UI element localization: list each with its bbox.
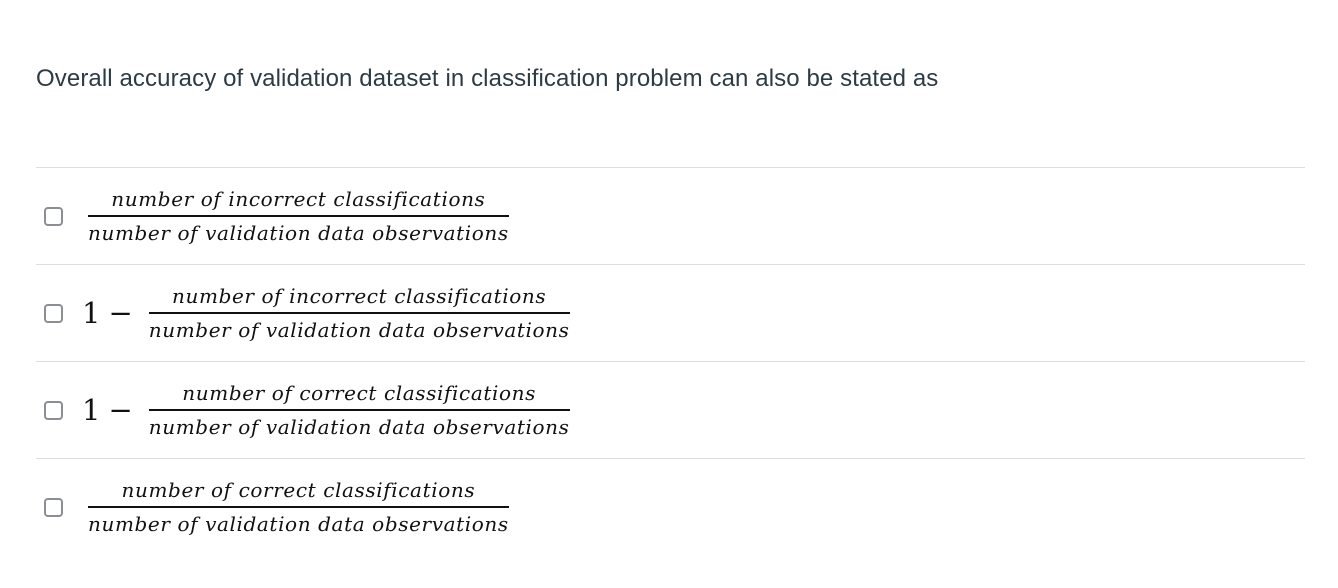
answer-option-row[interactable]: 1− number of correct classifications num…	[36, 361, 1305, 458]
answer-option-row[interactable]: 1− number of incorrect classifications n…	[36, 264, 1305, 361]
answer-options-list: number of incorrect classifications numb…	[36, 167, 1305, 555]
answer-option-row[interactable]: number of incorrect classifications numb…	[36, 167, 1305, 264]
checkbox-unchecked-icon[interactable]	[44, 304, 63, 323]
minus-sign: −	[100, 296, 134, 330]
fraction-denominator: number of validation data observations	[149, 411, 570, 441]
fraction: number of incorrect classifications numb…	[149, 282, 570, 344]
question-stem: Overall accuracy of validation dataset i…	[36, 62, 938, 96]
leading-one: 1	[82, 296, 100, 330]
answer-math-expression: 1− number of incorrect classifications n…	[80, 282, 1305, 344]
fraction-numerator: number of incorrect classifications	[99, 185, 497, 215]
checkbox-unchecked-icon[interactable]	[44, 207, 63, 226]
fraction: number of correct classifications number…	[88, 476, 509, 538]
answer-math-expression: number of incorrect classifications numb…	[80, 185, 1305, 247]
checkbox-unchecked-icon[interactable]	[44, 498, 63, 517]
answer-checkbox-cell[interactable]	[36, 401, 80, 420]
fraction-numerator: number of correct classifications	[110, 476, 488, 506]
answer-checkbox-cell[interactable]	[36, 207, 80, 226]
minus-sign: −	[100, 393, 134, 427]
checkbox-unchecked-icon[interactable]	[44, 401, 63, 420]
fraction-numerator: number of correct classifications	[170, 379, 548, 409]
leading-one: 1	[82, 393, 100, 427]
answer-option-row[interactable]: number of correct classifications number…	[36, 458, 1305, 555]
quiz-question-page: Overall accuracy of validation dataset i…	[0, 0, 1338, 588]
answer-checkbox-cell[interactable]	[36, 304, 80, 323]
answer-math-expression: 1− number of correct classifications num…	[80, 379, 1305, 441]
fraction-denominator: number of validation data observations	[88, 217, 509, 247]
answer-math-expression: number of correct classifications number…	[80, 476, 1305, 538]
fraction-denominator: number of validation data observations	[149, 314, 570, 344]
fraction: number of incorrect classifications numb…	[88, 185, 509, 247]
fraction-numerator: number of incorrect classifications	[160, 282, 558, 312]
answer-checkbox-cell[interactable]	[36, 498, 80, 517]
leading-term: 1−	[80, 396, 149, 425]
fraction: number of correct classifications number…	[149, 379, 570, 441]
fraction-denominator: number of validation data observations	[88, 508, 509, 538]
leading-term: 1−	[80, 299, 149, 328]
